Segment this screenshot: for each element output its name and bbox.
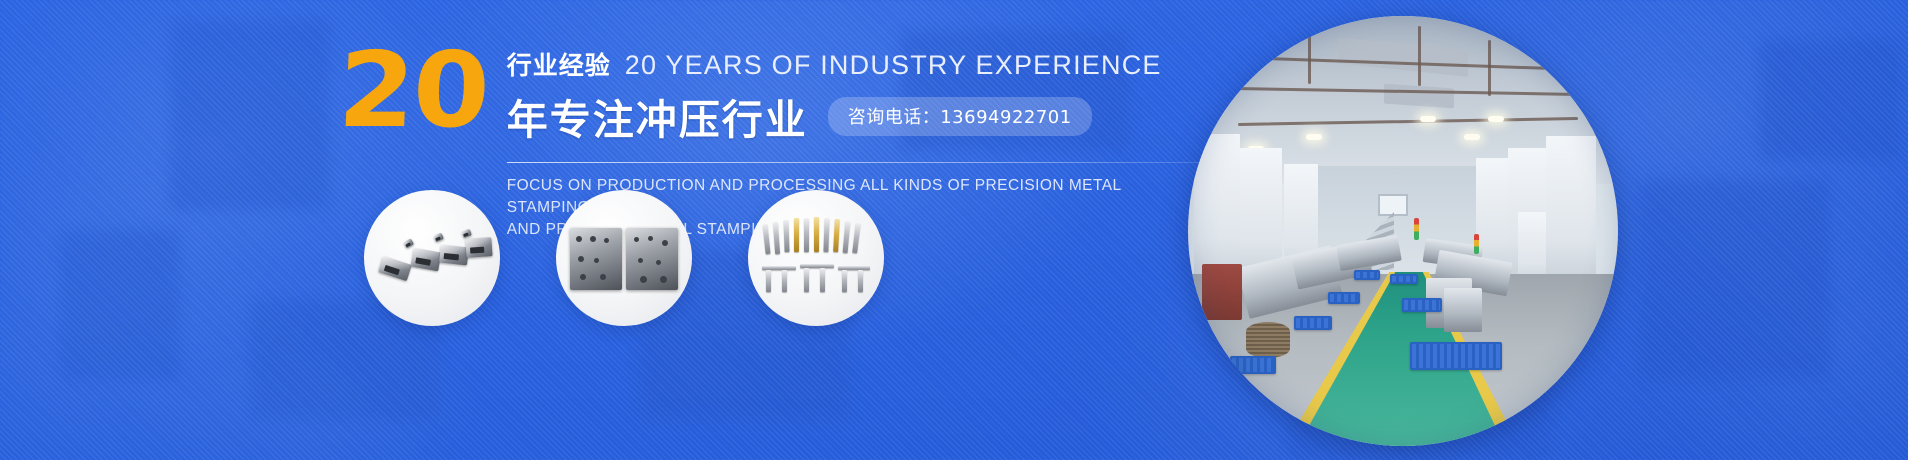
divider-rule bbox=[507, 162, 1219, 163]
years-number: 20 bbox=[337, 46, 489, 135]
usb-connector-shells-photo bbox=[364, 190, 500, 326]
en-headline: 20 YEARS OF INDUSTRY EXPERIENCE bbox=[625, 50, 1162, 81]
metal-terminal-pins-photo bbox=[748, 190, 884, 326]
headline-line-one: 行业经验 20 YEARS OF INDUSTRY EXPERIENCE bbox=[507, 46, 1219, 82]
product-image-metal-terminal-pins bbox=[748, 190, 884, 326]
photo-vignette bbox=[1188, 16, 1618, 446]
product-image-precision-stamping-die bbox=[556, 190, 692, 326]
cn-subtitle-experience: 行业经验 bbox=[507, 46, 611, 82]
precision-stamping-die-photo bbox=[556, 190, 692, 326]
product-thumbnail-group bbox=[364, 190, 884, 326]
promo-banner: 20 行业经验 20 YEARS OF INDUSTRY EXPERIENCE … bbox=[0, 0, 1908, 460]
product-image-usb-connector-shells bbox=[364, 190, 500, 326]
headline-line-two: 年专注冲压行业 咨询电话：13694922701 bbox=[507, 86, 1219, 146]
cn-main-headline: 年专注冲压行业 bbox=[507, 86, 808, 146]
phone-badge[interactable]: 咨询电话：13694922701 bbox=[828, 97, 1092, 136]
factory-workshop-photo bbox=[1188, 16, 1618, 446]
